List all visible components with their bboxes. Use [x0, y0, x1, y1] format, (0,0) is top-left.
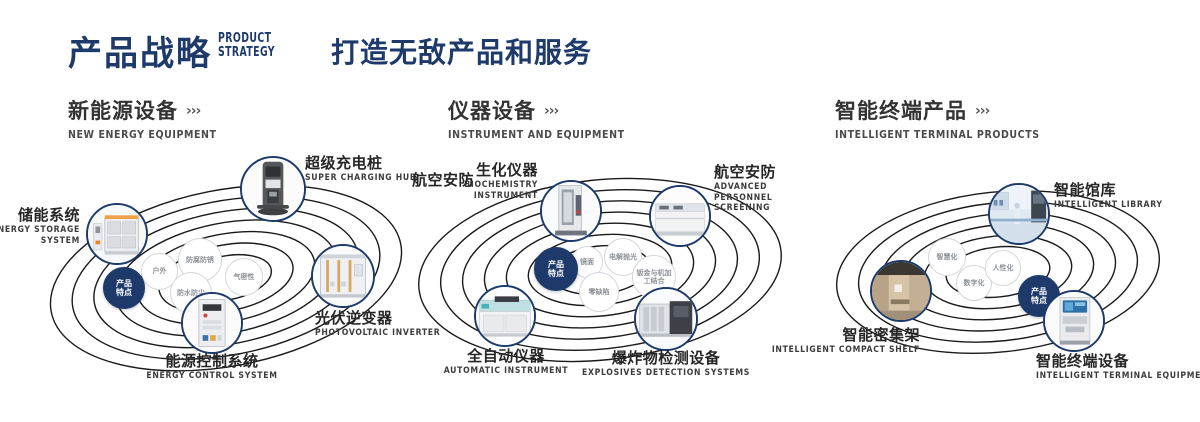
charging-pile-photo	[242, 158, 304, 220]
node-bubble-energy-storage[interactable]	[86, 203, 148, 265]
section-heading-new-energy: 新能源设备››› NEW ENERGY EQUIPMENT	[68, 95, 217, 141]
node-bubble-automatic-instrument[interactable]	[474, 285, 536, 347]
node-label-energy-storage: 储能系统 ENERGY STORAGE SYSTEM	[0, 207, 80, 246]
node-bubble-super-charging-hub[interactable]	[240, 156, 306, 222]
node-bubble-photovoltaic-inverter[interactable]	[311, 244, 375, 308]
section-heading-instrument: 仪器设备››› INSTRUMENT AND EQUIPMENT	[448, 95, 625, 141]
core-bubble-product-features: 产品特点	[103, 267, 145, 309]
product-strategy-infographic: 产品战略 PRODUCT STRATEGY 打造无敌产品和服务 新能源设备›››…	[0, 0, 1200, 422]
battery-cabinet-photo	[88, 205, 146, 263]
node-label-energy-control-system: 能源控制系统 ENERGY CONTROL SYSTEM	[102, 353, 322, 382]
page-title-en-line2: STRATEGY	[218, 46, 275, 60]
feature-bubble: 人性化	[985, 250, 1021, 286]
cluster-intelligent-terminal: 智慧化 数字化 人性化 产品特点 智能馆库 INTELLIG	[800, 150, 1200, 400]
node-bubble-intelligent-compact-shelf[interactable]	[870, 260, 932, 322]
page-slogan: 打造无敌产品和服务	[331, 31, 592, 71]
node-bubble-intelligent-terminal-equipment[interactable]	[1043, 290, 1105, 352]
node-bubble-energy-control-system[interactable]	[181, 292, 243, 354]
chevron-right-arrows-icon: ›››	[544, 103, 558, 119]
section-title-cn-text: 仪器设备	[448, 99, 536, 123]
section-title-en-instrument: INSTRUMENT AND EQUIPMENT	[448, 129, 625, 141]
aux-label-aviation-security: 航空安防	[344, 172, 474, 189]
section-title-en-intelligent: INTELLIGENT TERMINAL PRODUCTS	[835, 129, 1040, 141]
node-bubble-advanced-personnel-screening[interactable]	[649, 185, 711, 247]
node-bubble-explosives-detection[interactable]	[634, 287, 698, 351]
biochemistry-scanner-photo	[542, 182, 600, 240]
cluster-instrument: 镜面 电解抛光 零缺陷 钣金与机加工结合 产品特点 生化仪器 BIOCHEMIS…	[404, 150, 804, 400]
inverter-cabinet-photo	[313, 246, 373, 306]
control-cabinet-photo	[183, 294, 241, 352]
node-label-intelligent-library: 智能馆库 INTELLIGENT LIBRARY	[1054, 182, 1163, 211]
chevron-right-arrows-icon: ›››	[186, 103, 200, 119]
feature-bubble: 气密性	[225, 258, 263, 296]
section-title-en-new-energy: NEW ENERGY EQUIPMENT	[68, 129, 217, 141]
library-interior-photo	[990, 185, 1048, 243]
self-service-kiosk-photo	[1045, 292, 1103, 350]
section-title-cn-intelligent: 智能终端产品›››	[835, 95, 1040, 125]
node-label-intelligent-terminal-equipment: 智能终端设备 INTELLIGENT TERMINAL EQUIPMENT	[1036, 353, 1200, 382]
explosive-detector-photo	[636, 289, 696, 349]
section-title-cn-text: 新能源设备	[68, 99, 178, 123]
section-heading-intelligent-terminal: 智能终端产品››› INTELLIGENT TERMINAL PRODUCTS	[835, 95, 1040, 141]
feature-bubble: 零缺陷	[579, 272, 619, 312]
core-bubble-product-features: 产品特点	[534, 247, 578, 291]
automatic-analyzer-photo	[476, 287, 534, 345]
page-title: 产品战略	[68, 26, 212, 75]
node-bubble-biochemistry-instrument[interactable]	[540, 180, 602, 242]
screening-machine-photo	[651, 187, 709, 245]
section-title-cn-instrument: 仪器设备›››	[448, 95, 625, 125]
chevron-right-arrows-icon: ›››	[975, 103, 989, 119]
node-label-automatic-instrument: 全自动仪器 AUTOMATIC INSTRUMENT	[396, 348, 616, 377]
node-label-intelligent-compact-shelf: 智能密集架 INTELLIGENT COMPACT SHELF	[760, 327, 920, 356]
node-label-advanced-personnel-screening: 航空安防 ADVANCED PERSONNEL SCREENING	[714, 164, 810, 214]
section-title-cn-text: 智能终端产品	[835, 99, 967, 123]
header: 产品战略 PRODUCT STRATEGY 打造无敌产品和服务	[0, 0, 1200, 88]
compact-shelf-photo	[872, 262, 930, 320]
section-title-cn-new-energy: 新能源设备›››	[68, 95, 217, 125]
page-title-en-line1: PRODUCT	[218, 32, 275, 46]
page-title-en: PRODUCT STRATEGY	[218, 32, 275, 60]
node-bubble-intelligent-library[interactable]	[988, 183, 1050, 245]
